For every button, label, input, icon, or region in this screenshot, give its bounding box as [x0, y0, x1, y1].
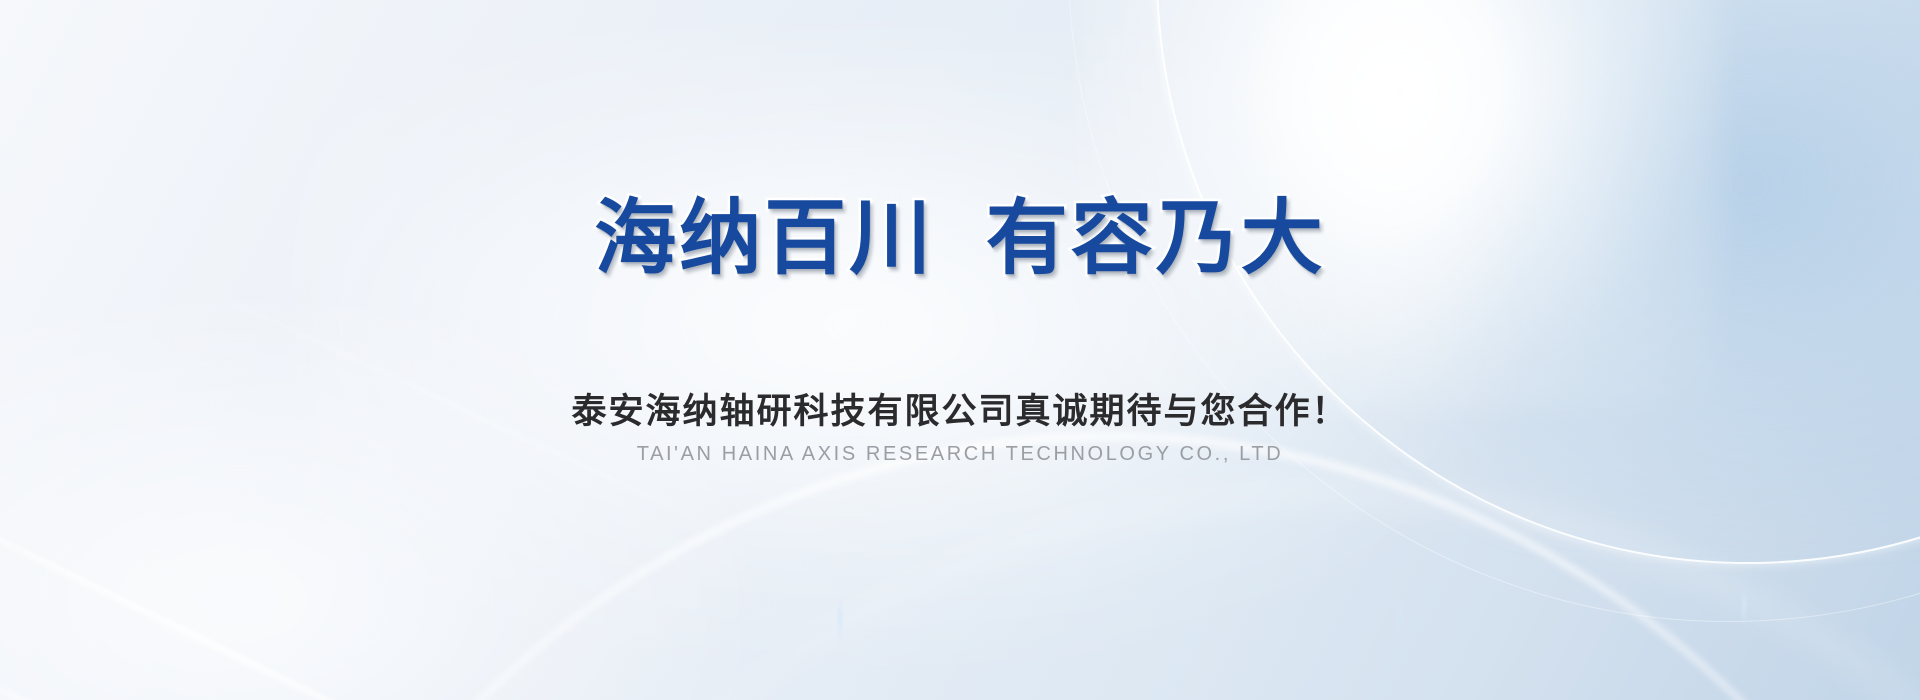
lower-left-haze-glow	[0, 300, 740, 700]
diagonal-light-streak	[0, 630, 351, 700]
center-haze-glow	[300, 40, 1500, 660]
bottom-sweep-arc	[170, 433, 1920, 700]
vertical-light-sliver	[838, 598, 842, 644]
banner-headline: 海纳百川 有容乃大	[0, 196, 1920, 282]
vertical-light-sliver	[1398, 598, 1401, 646]
secondary-white-arc	[1068, 0, 1920, 622]
banner-subtitle-chinese: 泰安海纳轴研科技有限公司真诚期待与您合作！	[0, 383, 1920, 434]
bottom-sweep-arc-echo	[320, 486, 1920, 700]
diagonal-light-streak	[0, 455, 405, 700]
vertical-light-sliver	[1742, 588, 1746, 628]
diagonal-light-streak	[0, 470, 543, 700]
hero-banner: 海纳百川 有容乃大 泰安海纳轴研科技有限公司真诚期待与您合作！ TAI'AN H…	[0, 0, 1920, 700]
banner-subtitle-english: TAI'AN HAINA AXIS RESEARCH TECHNOLOGY CO…	[0, 443, 1920, 466]
